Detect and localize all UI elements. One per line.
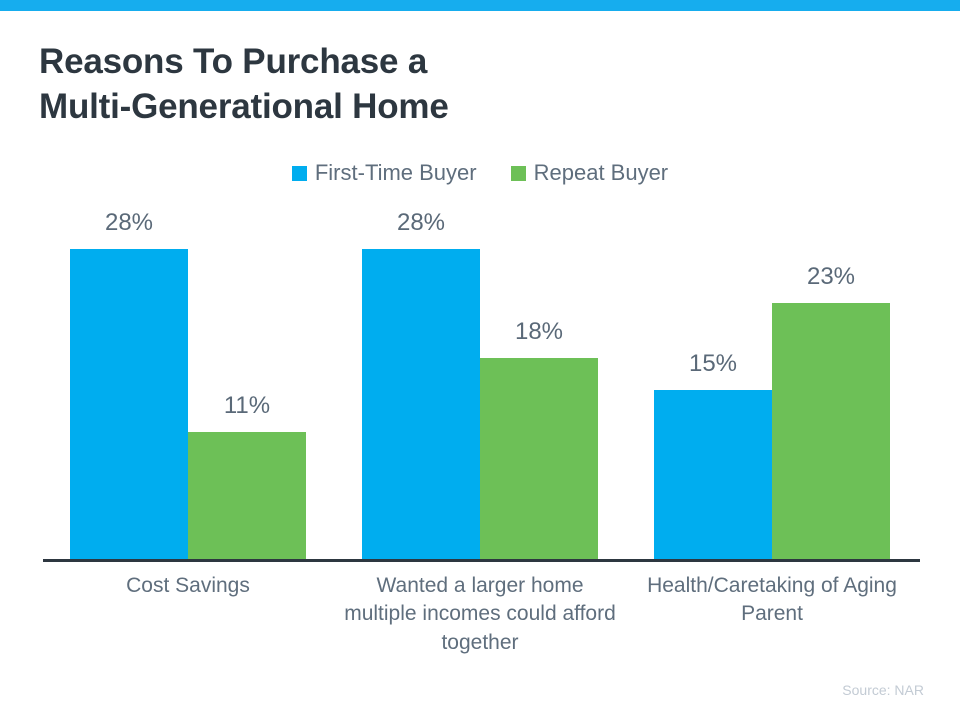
chart-page: Reasons To Purchase a Multi-Generational… [0, 0, 960, 720]
bar-value-label: 23% [772, 263, 890, 291]
bar-value-label: 28% [362, 209, 480, 237]
bar-value-label: 15% [654, 350, 772, 378]
bar-cost-savings-first-time-buyer[interactable] [70, 249, 188, 561]
x-axis-label-cost-savings: Cost Savings [68, 572, 308, 600]
plot-area: 28% 11% 28% 18% 15% 23% Cost Savings Wan… [0, 0, 960, 720]
bar-value-label: 18% [480, 318, 598, 346]
x-axis-line [43, 559, 920, 562]
bar-value-label: 28% [70, 209, 188, 237]
bar-cost-savings-repeat-buyer[interactable] [188, 432, 306, 561]
bar-larger-home-first-time-buyer[interactable] [362, 249, 480, 561]
source-attribution: Source: NAR [842, 682, 924, 698]
bar-value-label: 11% [188, 392, 306, 420]
x-axis-label-larger-home: Wanted a larger home multiple incomes co… [340, 572, 620, 657]
bar-health-caretaking-first-time-buyer[interactable] [654, 390, 772, 561]
bar-health-caretaking-repeat-buyer[interactable] [772, 303, 890, 561]
x-axis-label-health-caretaking: Health/Caretaking of Aging Parent [640, 572, 904, 629]
bar-larger-home-repeat-buyer[interactable] [480, 358, 598, 561]
